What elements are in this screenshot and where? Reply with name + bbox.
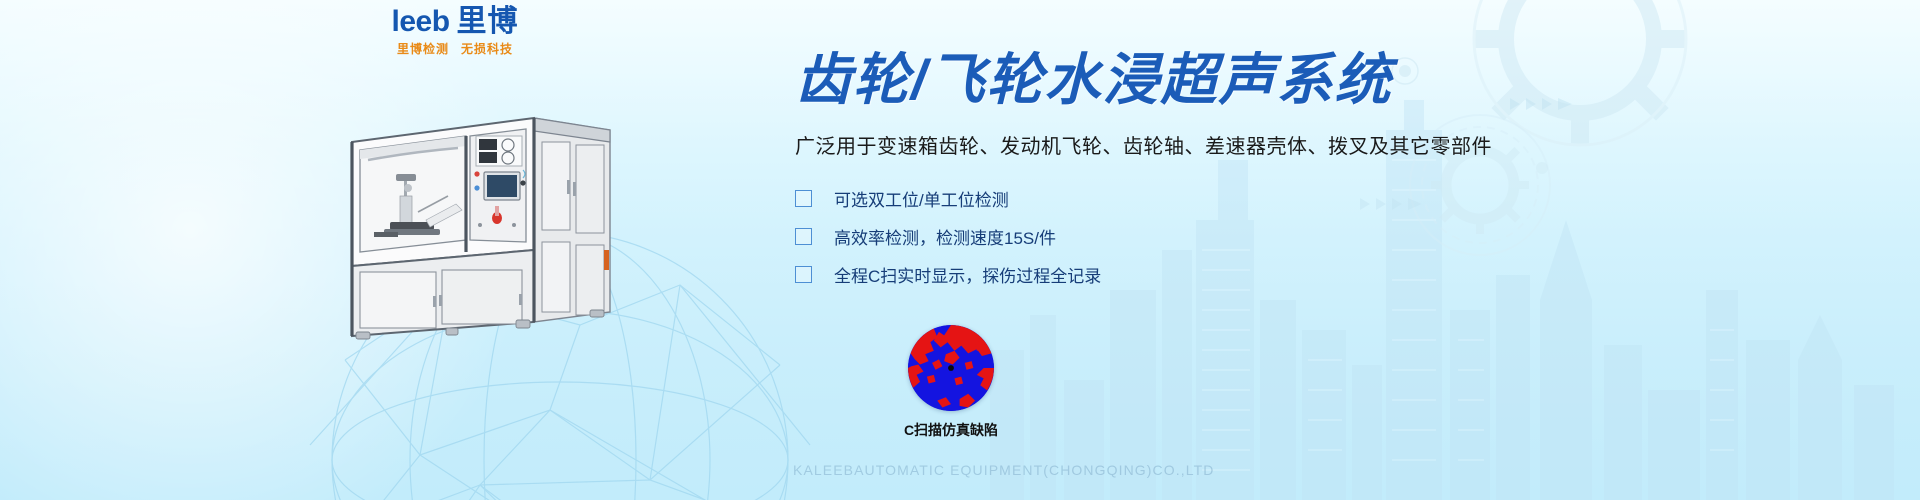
cscan-image bbox=[908, 325, 994, 411]
logo-tagline: 里博检测无损科技 bbox=[340, 40, 570, 57]
logo-chinese-text: 里博 bbox=[457, 5, 519, 38]
hero-content: 齿轮/飞轮水浸超声系统 广泛用于变速箱齿轮、发动机飞轮、齿轮轴、差速器壳体、拨叉… bbox=[795, 48, 1595, 293]
logo-wordmark: leeb里博 bbox=[340, 6, 570, 38]
list-item[interactable]: 全程C扫实时显示，探伤过程全记录 bbox=[795, 255, 1595, 293]
logo-tagline-right: 无损科技 bbox=[461, 42, 513, 56]
cscan-caption: C扫描仿真缺陷 bbox=[866, 420, 1036, 440]
page-title: 齿轮/飞轮水浸超声系统 bbox=[795, 48, 1595, 112]
machine-product-image bbox=[338, 100, 618, 345]
list-item[interactable]: 可选双工位/单工位检测 bbox=[795, 179, 1595, 217]
checkbox-icon bbox=[795, 266, 812, 283]
hero-subtitle: 广泛用于变速箱齿轮、发动机飞轮、齿轮轴、差速器壳体、拨叉及其它零部件 bbox=[795, 130, 1595, 159]
feature-label: 高效率检测，检测速度15S/件 bbox=[834, 224, 1056, 249]
logo-latin-text: leeb bbox=[391, 5, 449, 38]
promo-banner: leeb里博 里博检测无损科技 bbox=[0, 0, 1920, 500]
cscan-figure: C扫描仿真缺陷 bbox=[866, 325, 1036, 440]
list-item[interactable]: 高效率检测，检测速度15S/件 bbox=[795, 217, 1595, 255]
feature-label: 可选双工位/单工位检测 bbox=[834, 186, 1009, 211]
checkbox-icon bbox=[795, 190, 812, 207]
cscan-defect-map bbox=[908, 325, 994, 411]
company-watermark: KALEEBAUTOMATIC EQUIPMENT(CHONGQING)CO.,… bbox=[793, 462, 1214, 478]
brand-logo[interactable]: leeb里博 里博检测无损科技 bbox=[340, 6, 570, 57]
logo-tagline-left: 里博检测 bbox=[397, 42, 449, 56]
feature-list: 可选双工位/单工位检测 高效率检测，检测速度15S/件 全程C扫实时显示，探伤过… bbox=[795, 179, 1595, 293]
feature-label: 全程C扫实时显示，探伤过程全记录 bbox=[834, 262, 1101, 287]
checkbox-icon bbox=[795, 228, 812, 245]
